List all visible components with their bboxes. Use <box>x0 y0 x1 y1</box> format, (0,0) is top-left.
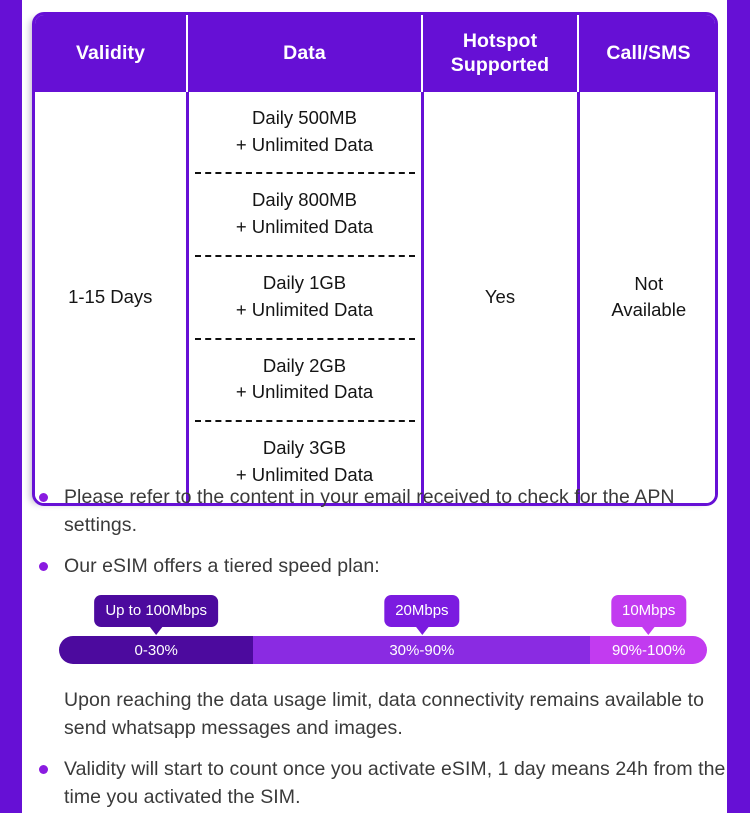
speed-tooltip-tier3: 10Mbps <box>611 595 686 627</box>
header-call-sms: Call/SMS <box>578 15 718 92</box>
list-item: Daily 800MB + Unlimited Data <box>195 174 415 257</box>
bullet-dot-icon <box>39 562 48 571</box>
data-plan-extra: + Unlimited Data <box>199 214 411 241</box>
list-item: Our eSIM offers a tiered speed plan: <box>32 553 732 581</box>
list-item: Upon reaching the data usage limit, data… <box>32 687 732 742</box>
bullet-dot-icon <box>39 493 48 502</box>
note-tiered-speed-intro: Our eSIM offers a tiered speed plan: <box>64 553 380 581</box>
note-validity-count: Validity will start to count once you ac… <box>64 756 732 811</box>
note-usage-limit: Upon reaching the data usage limit, data… <box>64 687 732 742</box>
data-plan-extra: + Unlimited Data <box>199 297 411 324</box>
list-item: Daily 2GB + Unlimited Data <box>195 340 415 423</box>
data-plan-amount: Daily 800MB <box>199 187 411 214</box>
data-plan-amount: Daily 2GB <box>199 353 411 380</box>
speed-tier-bar: 0-30% 30%-90% 90%-100% <box>59 636 707 664</box>
list-item: Please refer to the content in your emai… <box>32 484 732 539</box>
table-row: 1-15 Days Daily 500MB + Unlimited Data D… <box>35 92 718 503</box>
table-header-row: Validity Data Hotspot Supported Call/SMS <box>35 15 718 92</box>
data-plan-amount: Daily 3GB <box>199 435 411 462</box>
data-plan-list: Daily 500MB + Unlimited Data Daily 800MB… <box>195 92 415 503</box>
page-content: Validity Data Hotspot Supported Call/SMS… <box>22 0 727 813</box>
speed-tier-tooltips: Up to 100Mbps 20Mbps 10Mbps <box>59 590 707 636</box>
cell-data-plans: Daily 500MB + Unlimited Data Daily 800MB… <box>187 92 422 503</box>
cell-call-sms-value: Not Available <box>578 92 718 503</box>
header-hotspot-line1: Hotspot <box>463 30 537 52</box>
speed-tier-widget: Up to 100Mbps 20Mbps 10Mbps 0-30% 30%-90… <box>59 590 707 672</box>
header-data: Data <box>187 15 422 92</box>
speed-tooltip-tier1: Up to 100Mbps <box>94 595 218 627</box>
header-validity: Validity <box>35 15 187 92</box>
data-plan-amount: Daily 1GB <box>199 270 411 297</box>
data-plan-extra: + Unlimited Data <box>199 132 411 159</box>
header-hotspot-supported: Hotspot Supported <box>422 15 578 92</box>
header-hotspot-line2: Supported <box>451 54 549 76</box>
speed-segment-tier2: 30%-90% <box>253 636 590 664</box>
list-item: Daily 1GB + Unlimited Data <box>195 257 415 340</box>
data-plan-extra: + Unlimited Data <box>199 379 411 406</box>
call-sms-line1: Not <box>634 273 663 294</box>
bullet-dot-placeholder-icon <box>39 696 48 705</box>
left-accent-strip <box>0 0 22 813</box>
bullet-dot-icon <box>39 765 48 774</box>
note-apn-settings: Please refer to the content in your emai… <box>64 484 732 539</box>
cell-hotspot-value: Yes <box>422 92 578 503</box>
speed-segment-tier1: 0-30% <box>59 636 253 664</box>
cell-validity: 1-15 Days <box>35 92 187 503</box>
list-item: Daily 500MB + Unlimited Data <box>195 92 415 175</box>
speed-segment-tier3: 90%-100% <box>590 636 707 664</box>
speed-tooltip-tier2: 20Mbps <box>384 595 459 627</box>
list-item: Validity will start to count once you ac… <box>32 756 732 811</box>
plan-table-card: Validity Data Hotspot Supported Call/SMS… <box>32 12 718 506</box>
plan-table: Validity Data Hotspot Supported Call/SMS… <box>35 15 718 503</box>
call-sms-line2: Available <box>611 299 686 320</box>
data-plan-amount: Daily 500MB <box>199 105 411 132</box>
